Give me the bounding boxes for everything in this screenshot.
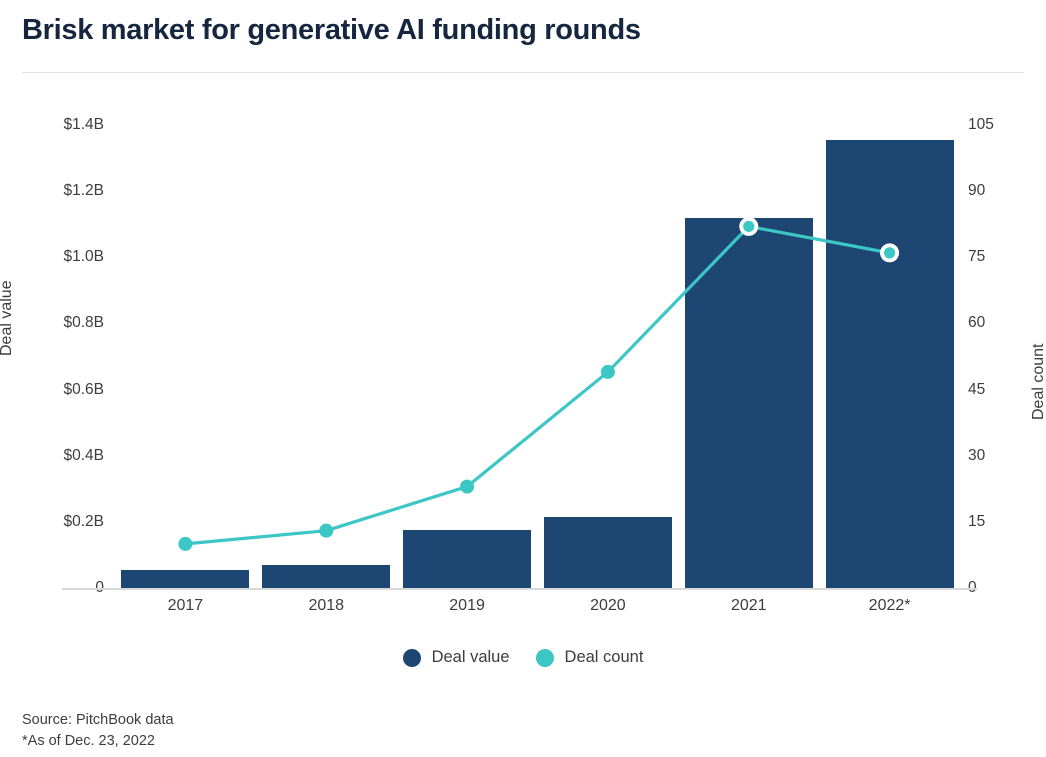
x-axis-tick: 2017 xyxy=(168,597,204,615)
y-axis-left-tick: $0.8B xyxy=(18,314,104,332)
data-point[interactable] xyxy=(743,221,754,232)
y-axis-right-tick: 45 xyxy=(968,381,1028,399)
combo-chart: Deal value Deal count 0$0.2B$0.4B$0.6B$0… xyxy=(0,0,1046,640)
line-series xyxy=(115,125,960,588)
y-axis-left-tick: $1.2B xyxy=(18,182,104,200)
legend-swatch-deal-value xyxy=(403,649,421,667)
y-axis-left-tick: $1.0B xyxy=(18,248,104,266)
data-point[interactable] xyxy=(601,365,615,379)
legend-label-deal-count: Deal count xyxy=(565,648,644,667)
source-note: Source: PitchBook data xyxy=(22,710,174,731)
asof-note: *As of Dec. 23, 2022 xyxy=(22,731,174,752)
y-axis-left-tick: $0.2B xyxy=(18,513,104,531)
y-axis-left-tick: $0.6B xyxy=(18,381,104,399)
x-axis-baseline xyxy=(62,588,977,590)
data-point[interactable] xyxy=(178,537,192,551)
data-point[interactable] xyxy=(884,247,895,258)
y-axis-left-tick: $0.4B xyxy=(18,447,104,465)
y-axis-right-tick: 30 xyxy=(968,447,1028,465)
line-path xyxy=(185,226,889,543)
legend-item-deal-value[interactable]: Deal value xyxy=(403,648,510,667)
chart-page: Brisk market for generative AI funding r… xyxy=(0,0,1046,757)
legend-swatch-deal-count xyxy=(536,649,554,667)
footnotes: Source: PitchBook data *As of Dec. 23, 2… xyxy=(22,710,174,752)
x-axis-tick: 2020 xyxy=(590,597,626,615)
y-axis-right-tick: 105 xyxy=(968,116,1028,134)
y-axis-right-tick: 75 xyxy=(968,248,1028,266)
chart-legend: Deal value Deal count xyxy=(0,648,1046,667)
y-axis-right-tick: 0 xyxy=(968,579,1028,597)
legend-item-deal-count[interactable]: Deal count xyxy=(536,648,644,667)
x-axis-tick: 2021 xyxy=(731,597,767,615)
y-axis-right-tick: 15 xyxy=(968,513,1028,531)
y-axis-right-title: Deal count xyxy=(1030,344,1046,421)
y-axis-right-tick: 90 xyxy=(968,182,1028,200)
y-axis-left-title: Deal value xyxy=(0,280,16,356)
x-axis-tick: 2019 xyxy=(449,597,485,615)
y-axis-right-tick: 60 xyxy=(968,314,1028,332)
data-point[interactable] xyxy=(460,480,474,494)
plot-area xyxy=(115,125,960,588)
legend-label-deal-value: Deal value xyxy=(432,648,510,667)
data-point[interactable] xyxy=(319,524,333,538)
x-axis-tick: 2018 xyxy=(308,597,344,615)
x-axis-tick: 2022* xyxy=(869,597,911,615)
y-axis-left-tick: $1.4B xyxy=(18,116,104,134)
